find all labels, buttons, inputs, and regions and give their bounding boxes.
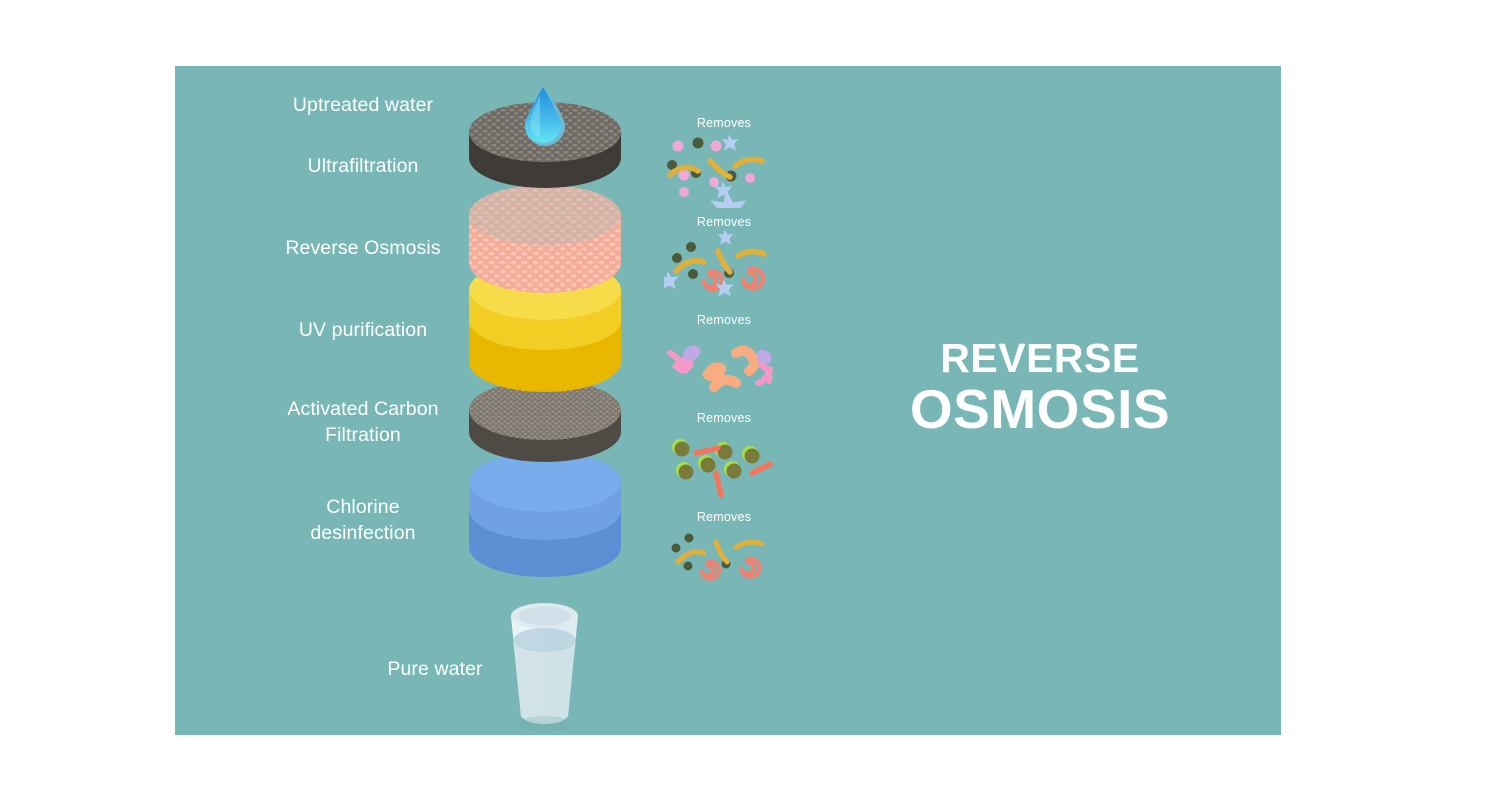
title-line-osmosis: OSMOSIS bbox=[860, 380, 1220, 438]
title-line-reverse: REVERSE bbox=[860, 336, 1220, 380]
contaminants-activated-carbon bbox=[664, 425, 784, 503]
label-uv-purification: UV purification bbox=[230, 317, 496, 343]
label-chlorine-desinfection: Chlorine desinfection bbox=[230, 494, 496, 546]
contaminants-chlorine-desinfection bbox=[664, 524, 784, 594]
removes-group-chlorine-desinfection: Removes bbox=[664, 510, 784, 595]
contaminants-ultrafiltration bbox=[664, 130, 784, 208]
label-reverse-osmosis: Reverse Osmosis bbox=[230, 235, 496, 261]
label-activated-carbon-filtration: Activated Carbon Filtration bbox=[230, 396, 496, 448]
removes-group-activated-carbon-filtration: Removes bbox=[664, 411, 784, 501]
removes-caption: Removes bbox=[664, 510, 784, 524]
infographic-canvas: Uptreated water Ultrafiltration Reverse … bbox=[0, 0, 1500, 800]
contaminants-reverse-osmosis bbox=[664, 229, 784, 307]
label-pure-water: Pure water bbox=[320, 656, 550, 682]
outlet-water-droplet-icon bbox=[522, 85, 564, 143]
removes-caption: Removes bbox=[664, 313, 784, 327]
removes-group-ultrafiltration: Removes bbox=[664, 116, 784, 206]
removes-group-reverse-osmosis: Removes bbox=[664, 215, 784, 305]
label-ultrafiltration: Ultrafiltration bbox=[230, 153, 496, 179]
removes-caption: Removes bbox=[664, 411, 784, 425]
main-title: REVERSE OSMOSIS bbox=[860, 336, 1220, 438]
label-uptreated-water: Uptreated water bbox=[230, 92, 496, 118]
removes-caption: Removes bbox=[664, 116, 784, 130]
removes-group-uv-purification: Removes bbox=[664, 313, 784, 403]
removes-caption: Removes bbox=[664, 215, 784, 229]
contaminants-uv-purification bbox=[664, 327, 784, 405]
